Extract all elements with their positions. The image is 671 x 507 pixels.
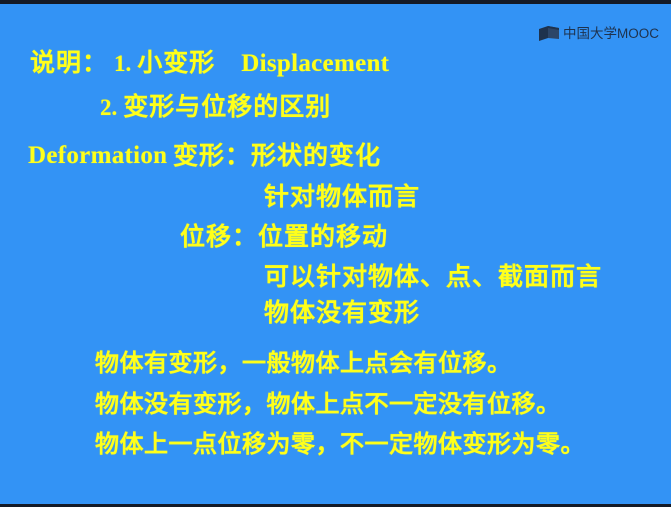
definition-line-5: 物体没有变形 bbox=[264, 300, 420, 325]
definition-line-3: 位移：位置的移动 bbox=[180, 224, 388, 249]
definition-line-1: 变形：形状的变化 bbox=[173, 143, 381, 168]
top-letterbox-strip bbox=[0, 0, 671, 4]
header-label: 说明： bbox=[30, 50, 108, 75]
header-item1-number: 1. bbox=[114, 52, 131, 75]
definition-line-4: 可以针对物体、点、截面而言 bbox=[264, 264, 602, 289]
conclusion-line-3: 物体上一点位移为零，不一定物体变形为零。 bbox=[95, 432, 585, 456]
header-line-2: 2. 变形与位移的区别 bbox=[100, 94, 331, 119]
book-flag-icon bbox=[539, 26, 559, 41]
slide-canvas: 中国大学MOOC 说明： 1. 小变形 Displacement 2. 变形与位… bbox=[0, 0, 671, 507]
mooc-watermark-logo: 中国大学MOOC bbox=[539, 26, 659, 41]
conclusion-line-2: 物体没有变形，物体上点不一定没有位移。 bbox=[95, 392, 561, 416]
header-item2-text: 变形与位移的区别 bbox=[123, 94, 331, 119]
deformation-english-label: Deformation bbox=[28, 143, 167, 168]
header-line-1: 说明： 1. 小变形 Displacement bbox=[30, 50, 389, 76]
mooc-logo-text: 中国大学MOOC bbox=[563, 27, 659, 41]
header-item1-text: 小变形 bbox=[137, 50, 215, 75]
header-item2-number: 2. bbox=[100, 96, 117, 119]
header-item1-english: Displacement bbox=[241, 51, 389, 76]
conclusion-line-1: 物体有变形，一般物体上点会有位移。 bbox=[95, 351, 512, 375]
definition-line-2: 针对物体而言 bbox=[264, 184, 420, 209]
